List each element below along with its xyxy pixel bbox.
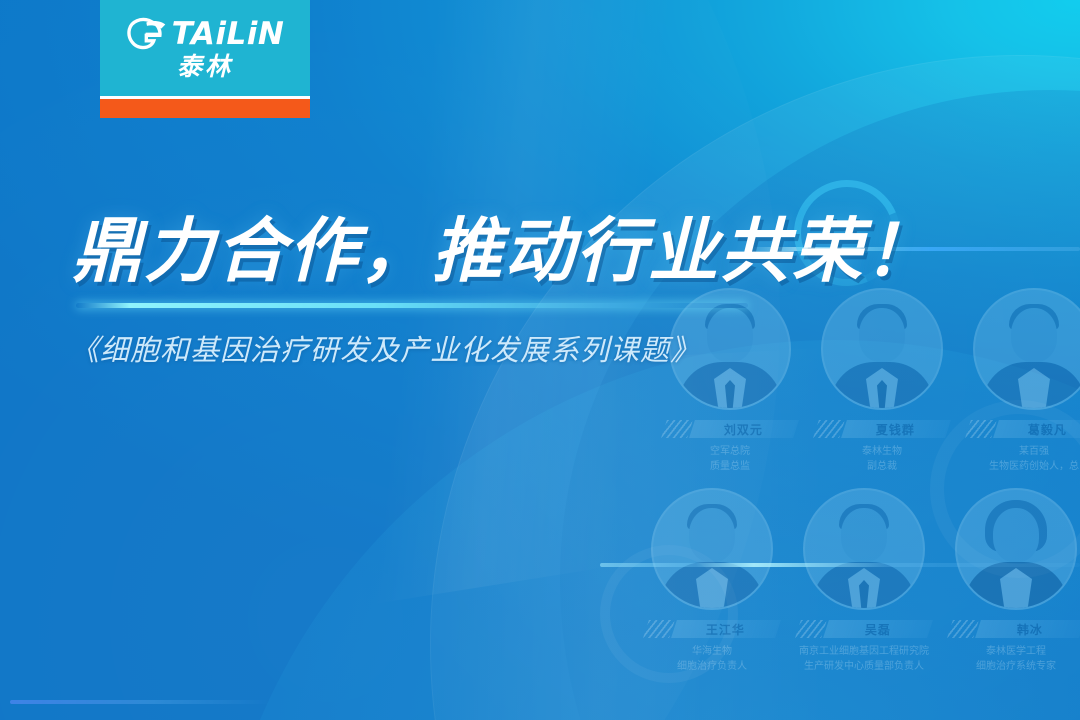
- speaker-org: 泰林生物: [862, 445, 902, 460]
- logo-orange-bar: [100, 99, 310, 118]
- hatch-icon: [813, 420, 845, 438]
- speaker-meta: 泰林生物 副总裁: [862, 445, 902, 474]
- speaker-role: 质量总监: [710, 460, 750, 475]
- speaker-name: 王江华: [706, 621, 745, 638]
- speaker-meta: 华海生物 细胞治疗负责人: [677, 645, 747, 674]
- avatar: [821, 288, 943, 410]
- speaker-meta: 某百强 生物医药创始人，总: [989, 445, 1079, 474]
- hatch-icon: [661, 420, 693, 438]
- speaker-nameplate: 刘双元: [664, 419, 796, 439]
- speaker-nameplate: 韩冰: [950, 619, 1080, 639]
- hatch-icon: [947, 620, 979, 638]
- speaker-org: 某百强: [989, 445, 1079, 460]
- speaker-nameplate: 夏钱群: [816, 419, 948, 439]
- speaker-org: 南京工业细胞基因工程研究院: [799, 645, 929, 660]
- speaker-card: 葛毅凡 某百强 生物医药创始人，总: [964, 288, 1080, 474]
- speaker-name: 刘双元: [724, 421, 763, 438]
- speaker-nameplate: 王江华: [646, 619, 778, 639]
- speaker-role: 细胞治疗负责人: [677, 660, 747, 675]
- speaker-role: 生物医药创始人，总: [989, 460, 1079, 475]
- speaker-meta: 泰林医学工程 细胞治疗系统专家: [976, 645, 1056, 674]
- tailin-swoosh-icon: [126, 17, 168, 51]
- accent-line-middle: [600, 563, 1080, 567]
- speaker-meta: 空军总院 质量总监: [710, 445, 750, 474]
- speaker-row-1: 刘双元 空军总院 质量总监 夏钱群 泰林生物 副总裁: [660, 288, 1080, 474]
- speaker-name: 韩冰: [1017, 621, 1043, 638]
- accent-line-bottom: [10, 700, 270, 704]
- tailin-logo-block: TAiLiN 泰林: [100, 0, 310, 118]
- speaker-card: 刘双元 空军总院 质量总监: [660, 288, 800, 474]
- speaker-org: 空军总院: [710, 445, 750, 460]
- speaker-meta: 南京工业细胞基因工程研究院 生产研发中心质量部负责人: [799, 645, 929, 674]
- promo-banner: 刘双元 空军总院 质量总监 夏钱群 泰林生物 副总裁: [0, 0, 1080, 720]
- speaker-name: 吴磊: [865, 621, 891, 638]
- speaker-card: 吴磊 南京工业细胞基因工程研究院 生产研发中心质量部负责人: [794, 488, 934, 674]
- speaker-card: 韩冰 泰林医学工程 细胞治疗系统专家: [946, 488, 1080, 674]
- speaker-role: 生产研发中心质量部负责人: [799, 660, 929, 675]
- speaker-org: 华海生物: [677, 645, 747, 660]
- hatch-icon: [965, 420, 997, 438]
- page-subtitle: 《细胞和基因治疗研发及产业化发展系列课题》: [70, 331, 700, 370]
- speaker-role: 细胞治疗系统专家: [976, 660, 1056, 675]
- speaker-org: 泰林医学工程: [976, 645, 1056, 660]
- avatar: [651, 488, 773, 610]
- speaker-name: 葛毅凡: [1028, 421, 1067, 438]
- speaker-row-2: 王江华 华海生物 细胞治疗负责人 吴磊 南京工业细胞基因工程研究院 生产研发中心…: [642, 488, 1080, 674]
- speaker-name: 夏钱群: [876, 421, 915, 438]
- logo-chinese-text: 泰林: [177, 54, 233, 79]
- hatch-icon: [795, 620, 827, 638]
- speaker-nameplate: 吴磊: [798, 619, 930, 639]
- speaker-role: 副总裁: [862, 460, 902, 475]
- hatch-icon: [643, 620, 675, 638]
- avatar: [955, 488, 1077, 610]
- speaker-portrait-grid: 刘双元 空军总院 质量总监 夏钱群 泰林生物 副总裁: [660, 288, 1080, 674]
- avatar: [973, 288, 1080, 410]
- logo-latin-text: TAiLiN: [172, 19, 285, 50]
- page-title: 鼎力合作，推动行业共荣！: [72, 216, 936, 286]
- title-underline-glow: [76, 303, 748, 308]
- avatar: [803, 488, 925, 610]
- speaker-card: 夏钱群 泰林生物 副总裁: [812, 288, 952, 474]
- speaker-card: 王江华 华海生物 细胞治疗负责人: [642, 488, 782, 674]
- speaker-nameplate: 葛毅凡: [968, 419, 1080, 439]
